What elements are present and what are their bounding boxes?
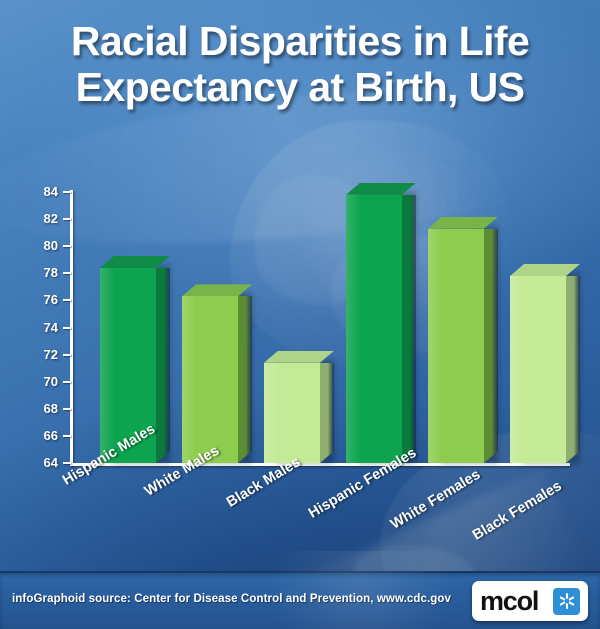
bar-side-face (566, 276, 580, 463)
bar (428, 217, 484, 463)
bar (182, 284, 238, 463)
y-axis-tick (63, 354, 71, 356)
bar (510, 264, 566, 463)
y-axis-tick (63, 245, 71, 247)
y-axis-tick (63, 408, 71, 410)
y-axis-label: 64 (14, 455, 58, 470)
bar-side-face (484, 229, 498, 463)
y-axis-tick (63, 462, 71, 464)
bar-front-face (510, 276, 566, 463)
infographic-canvas: Racial Disparities in Life Expectancy at… (0, 0, 600, 629)
footer-glow (240, 551, 480, 629)
mcol-logo-text: mcol (480, 586, 538, 616)
x-axis-label: Black Females (470, 478, 565, 544)
y-axis-tick (63, 327, 71, 329)
bar-side-face (238, 296, 252, 463)
bar-chart: 8482807876747270686664 Hispanic MalesWhi… (0, 0, 600, 560)
bar (346, 183, 402, 463)
y-axis-tick (63, 218, 71, 220)
bar-front-face (182, 296, 238, 463)
y-axis-tick (63, 191, 71, 193)
y-axis-tick (63, 435, 71, 437)
bar-front-face (428, 229, 484, 463)
y-axis-label: 70 (14, 374, 58, 389)
x-axis-label: White Females (388, 467, 483, 533)
bar-side-face (402, 195, 416, 463)
y-axis-tick (63, 381, 71, 383)
y-axis-tick (63, 299, 71, 301)
y-axis-tick (63, 272, 71, 274)
bar-front-face (264, 363, 320, 463)
y-axis-label: 68 (14, 401, 58, 416)
y-axis-label: 74 (14, 320, 58, 335)
y-axis-label: 78 (14, 265, 58, 280)
bar (264, 351, 320, 463)
y-axis-label: 84 (14, 184, 58, 199)
y-axis-label: 76 (14, 292, 58, 307)
bar-front-face (346, 195, 402, 463)
y-axis-label: 66 (14, 428, 58, 443)
y-axis-label: 82 (14, 211, 58, 226)
bar-side-face (320, 363, 334, 463)
footer-bar: infoGraphoid source: Center for Disease … (0, 571, 600, 629)
y-axis-label: 80 (14, 238, 58, 253)
asterisk-icon (553, 588, 580, 615)
mcol-logo[interactable]: mcol (472, 581, 588, 621)
y-axis-label: 72 (14, 347, 58, 362)
source-credit: infoGraphoid source: Center for Disease … (12, 593, 451, 605)
